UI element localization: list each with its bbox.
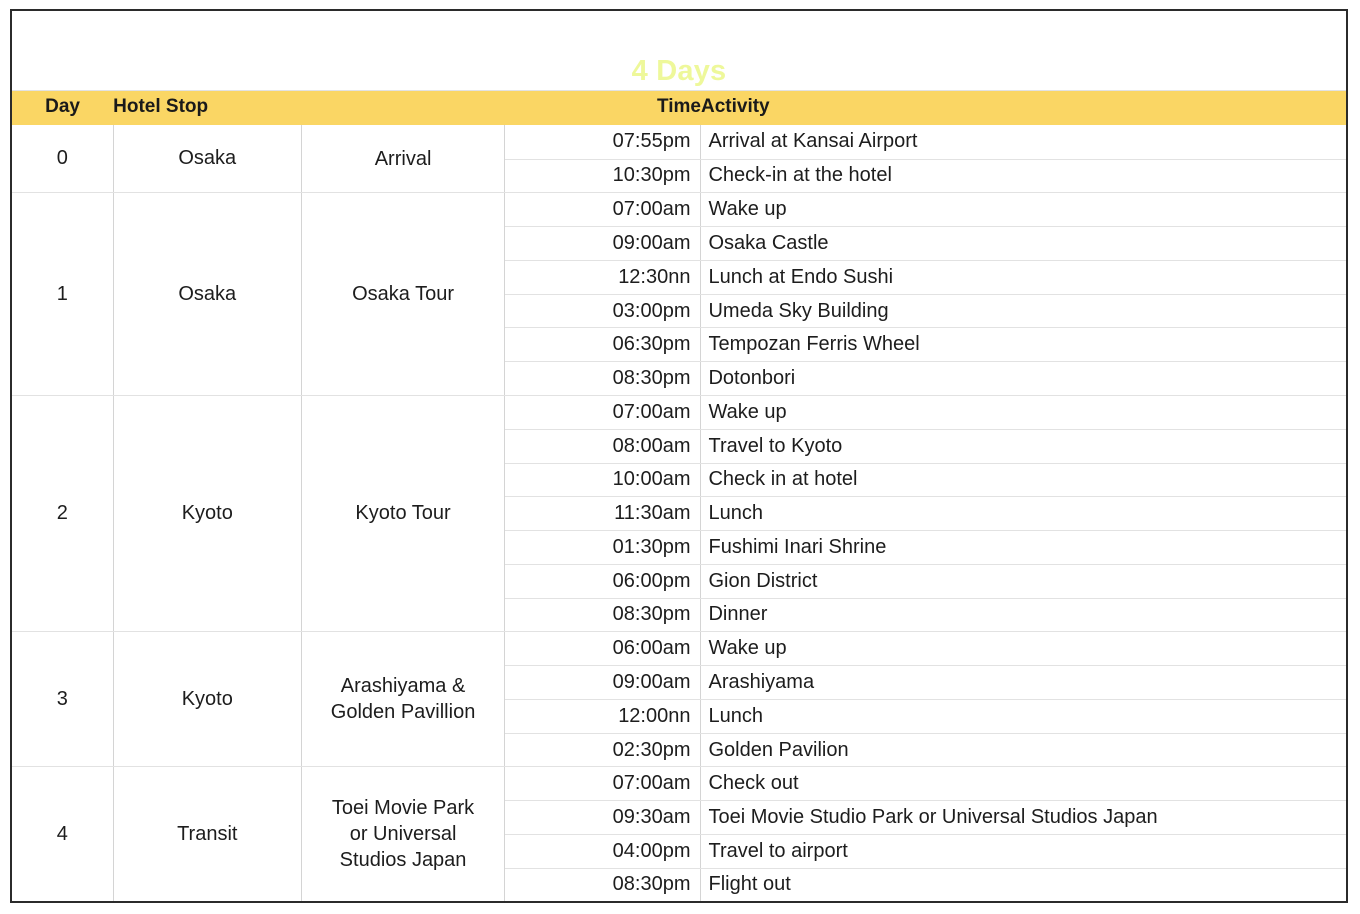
cell-hotel-stop: Kyoto	[113, 632, 301, 767]
cell-day: 1	[11, 193, 113, 396]
cell-time: 07:00am	[505, 767, 701, 801]
cell-activity: Dinner	[701, 598, 1347, 632]
cell-activity: Umeda Sky Building	[701, 294, 1347, 328]
cell-activity: Tempozan Ferris Wheel	[701, 328, 1347, 362]
table-row: 1OsakaOsaka Tour07:00amWake up	[11, 193, 1347, 227]
banner: OSAKA + KYOTO 4 Days	[11, 10, 1347, 91]
cell-activity: Wake up	[701, 193, 1347, 227]
cell-activity: Check out	[701, 767, 1347, 801]
banner-row: OSAKA + KYOTO 4 Days	[11, 10, 1347, 91]
cell-activity: Arrival at Kansai Airport	[701, 125, 1347, 159]
cell-activity: Lunch at Endo Sushi	[701, 260, 1347, 294]
cell-activity: Arashiyama	[701, 666, 1347, 700]
cell-time: 09:00am	[505, 666, 701, 700]
table-head: OSAKA + KYOTO 4 Days	[11, 10, 1347, 91]
cell-time: 07:55pm	[505, 125, 701, 159]
table-body: 0OsakaArrival07:55pmArrival at Kansai Ai…	[11, 125, 1347, 902]
column-header-hotel-stop: Hotel Stop	[113, 91, 301, 126]
cell-plan: Osaka Tour	[301, 193, 504, 396]
cell-time: 08:00am	[505, 429, 701, 463]
table-row: 3KyotoArashiyama &Golden Pavillion06:00a…	[11, 632, 1347, 666]
cell-activity: Toei Movie Studio Park or Universal Stud…	[701, 801, 1347, 835]
cell-time: 06:30pm	[505, 328, 701, 362]
cell-time: 06:00am	[505, 632, 701, 666]
table-row: 2KyotoKyoto Tour07:00amWake up	[11, 395, 1347, 429]
cell-time: 06:00pm	[505, 564, 701, 598]
column-header-hotel-stop-plan	[301, 91, 504, 126]
cell-time: 07:00am	[505, 193, 701, 227]
column-header-time: Time	[505, 91, 701, 126]
cell-activity: Dotonbori	[701, 362, 1347, 396]
cell-time: 07:00am	[505, 395, 701, 429]
cell-activity: Gion District	[701, 564, 1347, 598]
table-row: 0OsakaArrival07:55pmArrival at Kansai Ai…	[11, 125, 1347, 159]
banner-title: OSAKA + KYOTO	[12, 11, 1346, 53]
cell-time: 09:00am	[505, 227, 701, 261]
cell-activity: Travel to airport	[701, 834, 1347, 868]
column-header-activity: Activity	[701, 91, 1347, 126]
cell-activity: Wake up	[701, 395, 1347, 429]
cell-activity: Golden Pavilion	[701, 733, 1347, 767]
cell-activity: Wake up	[701, 632, 1347, 666]
cell-time: 08:30pm	[505, 362, 701, 396]
cell-time: 09:30am	[505, 801, 701, 835]
cell-day: 4	[11, 767, 113, 902]
itinerary-sheet: OSAKA + KYOTO 4 Days Day Hotel Stop Time…	[0, 0, 1360, 914]
cell-plan: Toei Movie Parkor UniversalStudios Japan	[301, 767, 504, 902]
cell-activity: Lunch	[701, 699, 1347, 733]
cell-time: 04:00pm	[505, 834, 701, 868]
cell-time: 12:30nn	[505, 260, 701, 294]
cell-activity: Fushimi Inari Shrine	[701, 531, 1347, 565]
cell-time: 10:30pm	[505, 159, 701, 193]
cell-hotel-stop: Osaka	[113, 125, 301, 193]
cell-hotel-stop: Transit	[113, 767, 301, 902]
cell-day: 3	[11, 632, 113, 767]
cell-plan: Arrival	[301, 125, 504, 193]
cell-time: 12:00nn	[505, 699, 701, 733]
column-header-day: Day	[11, 91, 113, 126]
cell-plan: Kyoto Tour	[301, 395, 504, 631]
cell-plan: Arashiyama &Golden Pavillion	[301, 632, 504, 767]
cell-activity: Check in at hotel	[701, 463, 1347, 497]
cell-activity: Osaka Castle	[701, 227, 1347, 261]
cell-activity: Lunch	[701, 497, 1347, 531]
cell-hotel-stop: Osaka	[113, 193, 301, 396]
cell-time: 11:30am	[505, 497, 701, 531]
cell-time: 02:30pm	[505, 733, 701, 767]
table-row: 4TransitToei Movie Parkor UniversalStudi…	[11, 767, 1347, 801]
cell-time: 03:00pm	[505, 294, 701, 328]
cell-time: 08:30pm	[505, 868, 701, 902]
column-header-row: Day Hotel Stop Time Activity	[11, 91, 1347, 126]
cell-hotel-stop: Kyoto	[113, 395, 301, 631]
cell-activity: Check-in at the hotel	[701, 159, 1347, 193]
cell-day: 2	[11, 395, 113, 631]
cell-activity: Travel to Kyoto	[701, 429, 1347, 463]
cell-time: 10:00am	[505, 463, 701, 497]
itinerary-table: OSAKA + KYOTO 4 Days Day Hotel Stop Time…	[10, 9, 1348, 903]
cell-time: 08:30pm	[505, 598, 701, 632]
banner-subtitle: 4 Days	[12, 53, 1346, 90]
cell-activity: Flight out	[701, 868, 1347, 902]
cell-time: 01:30pm	[505, 531, 701, 565]
cell-day: 0	[11, 125, 113, 193]
